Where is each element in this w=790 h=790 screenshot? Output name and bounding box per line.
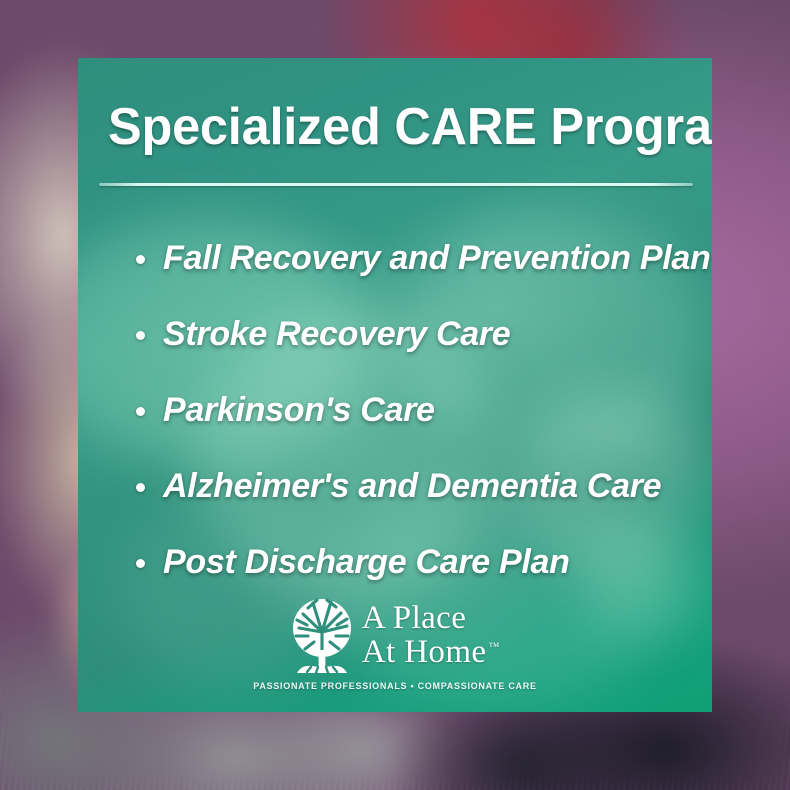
list-item-label: Parkinson's Care: [163, 391, 435, 429]
card-content: Specialized CARE Programs Fall Recovery …: [78, 58, 712, 712]
list-item-label: Stroke Recovery Care: [163, 315, 510, 353]
brand-logo: A Place At Home™ PASSIONATE PROFESSIONAL…: [78, 598, 712, 691]
list-item: Post Discharge Care Plan: [130, 544, 690, 580]
list-item-label: Post Discharge Care Plan: [163, 543, 570, 581]
logo-name-line-2: At Home™: [362, 636, 499, 670]
list-item-label: Fall Recovery and Prevention Plan: [163, 239, 711, 277]
logo-row: A Place At Home™: [291, 598, 499, 674]
bullet-icon: [136, 331, 145, 340]
bullet-icon: [136, 483, 145, 492]
list-item: Fall Recovery and Prevention Plan: [130, 240, 690, 276]
bullet-icon: [136, 559, 145, 568]
poster: Specialized CARE Programs Fall Recovery …: [0, 0, 790, 790]
title-divider: [99, 183, 693, 186]
bullet-icon: [136, 255, 145, 264]
logo-name-line-1: A Place: [362, 602, 499, 636]
list-item-label: Alzheimer's and Dementia Care: [163, 467, 661, 505]
trademark-symbol: ™: [488, 641, 499, 653]
logo-wordmark: A Place At Home™: [362, 602, 499, 669]
program-list: Fall Recovery and Prevention Plan Stroke…: [130, 240, 690, 580]
logo-name-line-2-text: At Home: [362, 634, 487, 670]
tree-logo-icon: [291, 598, 353, 674]
list-item: Stroke Recovery Care: [130, 316, 690, 352]
bullet-icon: [136, 407, 145, 416]
list-item: Parkinson's Care: [130, 392, 690, 428]
green-card-panel: Specialized CARE Programs Fall Recovery …: [78, 58, 712, 712]
logo-tagline: PASSIONATE PROFESSIONALS • COMPASSIONATE…: [253, 681, 536, 691]
page-title: Specialized CARE Programs: [108, 100, 690, 154]
list-item: Alzheimer's and Dementia Care: [130, 468, 690, 504]
